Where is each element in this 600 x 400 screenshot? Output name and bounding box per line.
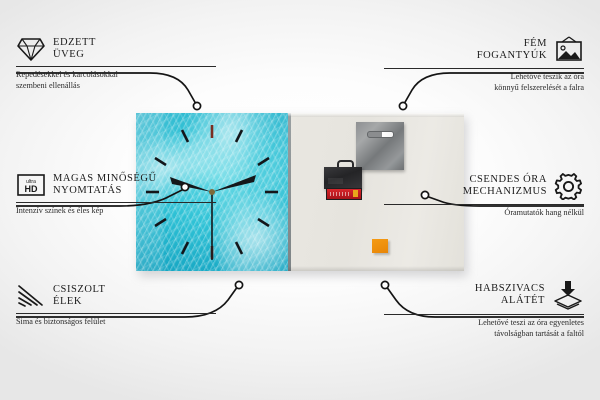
connector-dot-tempered-glass	[193, 102, 200, 109]
arrow-onto-layers-icon	[552, 280, 584, 310]
picture-frame-hanger-icon	[554, 36, 584, 64]
panel-top-highlight	[288, 113, 464, 117]
feature-heading: CSISZOLT ÉLEK	[16, 283, 216, 309]
feature-foam-spacer: HABSZIVACS ALÁTÉT Lehetővé teszi az óra …	[384, 280, 584, 339]
feature-title: FÉM FOGANTYÚK	[477, 38, 547, 63]
clock-movement	[324, 165, 362, 201]
feature-title: MAGAS MINŐSÉGŰ NYOMTATÁS	[53, 173, 157, 198]
feature-metal-hangers: FÉM FOGANTYÚK Lehetővé teszik az óra kön…	[384, 36, 584, 93]
feature-description: Repedésekkel és karcolásokkal szembeni e…	[16, 70, 216, 91]
hanger-slot	[367, 131, 394, 138]
feature-heading: FÉM FOGANTYÚK	[384, 36, 584, 64]
feature-description: Lehetővé teszik az óra könnyű felszerelé…	[384, 72, 584, 93]
movement-housing	[324, 167, 362, 189]
feature-description: Sima és biztonságos felület	[16, 317, 216, 328]
polished-edges-icon	[16, 283, 46, 309]
feature-silent-mechanism: CSENDES ÓRA MECHANIZMUS Óramutatók hang …	[384, 172, 584, 219]
feature-divider	[16, 313, 216, 314]
feature-heading: EDZETT ÜVEG	[16, 36, 216, 62]
feature-description: Lehetővé teszi az óra egyenletes távolsá…	[384, 318, 584, 339]
foam-pad	[372, 239, 388, 253]
gear-icon	[554, 172, 584, 200]
panel-edge	[288, 113, 291, 271]
feature-title: EDZETT ÜVEG	[53, 37, 96, 62]
feature-description: Óramutatók hang nélkül	[384, 208, 584, 219]
panel-bottom-shade	[288, 266, 464, 271]
feature-tempered-glass: EDZETT ÜVEG Repedésekkel és karcolásokka…	[16, 36, 216, 91]
minute-hand	[212, 175, 256, 192]
feature-heading: CSENDES ÓRA MECHANIZMUS	[384, 172, 584, 200]
diamond-icon	[16, 36, 46, 62]
feature-high-quality-print: ultra HD MAGAS MINŐSÉGŰ NYOMTATÁS Intenz…	[16, 172, 216, 217]
feature-description: Intenzív színek és éles kép	[16, 206, 216, 217]
feature-divider	[384, 68, 584, 69]
feature-title: CSISZOLT ÉLEK	[53, 284, 105, 309]
svg-text:HD: HD	[25, 184, 38, 194]
battery-label	[330, 192, 350, 196]
connector-dot-edges	[235, 281, 242, 288]
ultra-hd-icon: ultra HD	[16, 172, 46, 198]
feature-title: HABSZIVACS ALÁTÉT	[475, 283, 545, 308]
feature-divider	[384, 314, 584, 315]
feature-polished-edges: CSISZOLT ÉLEK Sima és biztonságos felüle…	[16, 283, 216, 328]
battery	[326, 188, 362, 200]
feature-divider	[16, 202, 216, 203]
connector-dot-hangers	[399, 102, 406, 109]
feature-heading: HABSZIVACS ALÁTÉT	[384, 280, 584, 310]
feature-heading: ultra HD MAGAS MINŐSÉGŰ NYOMTATÁS	[16, 172, 216, 198]
feature-title: CSENDES ÓRA MECHANIZMUS	[463, 174, 547, 199]
metal-hanger	[356, 122, 404, 170]
feature-divider	[384, 204, 584, 205]
infographic-canvas: EDZETT ÜVEG Repedésekkel és karcolásokka…	[0, 0, 600, 400]
feature-divider	[16, 66, 216, 67]
